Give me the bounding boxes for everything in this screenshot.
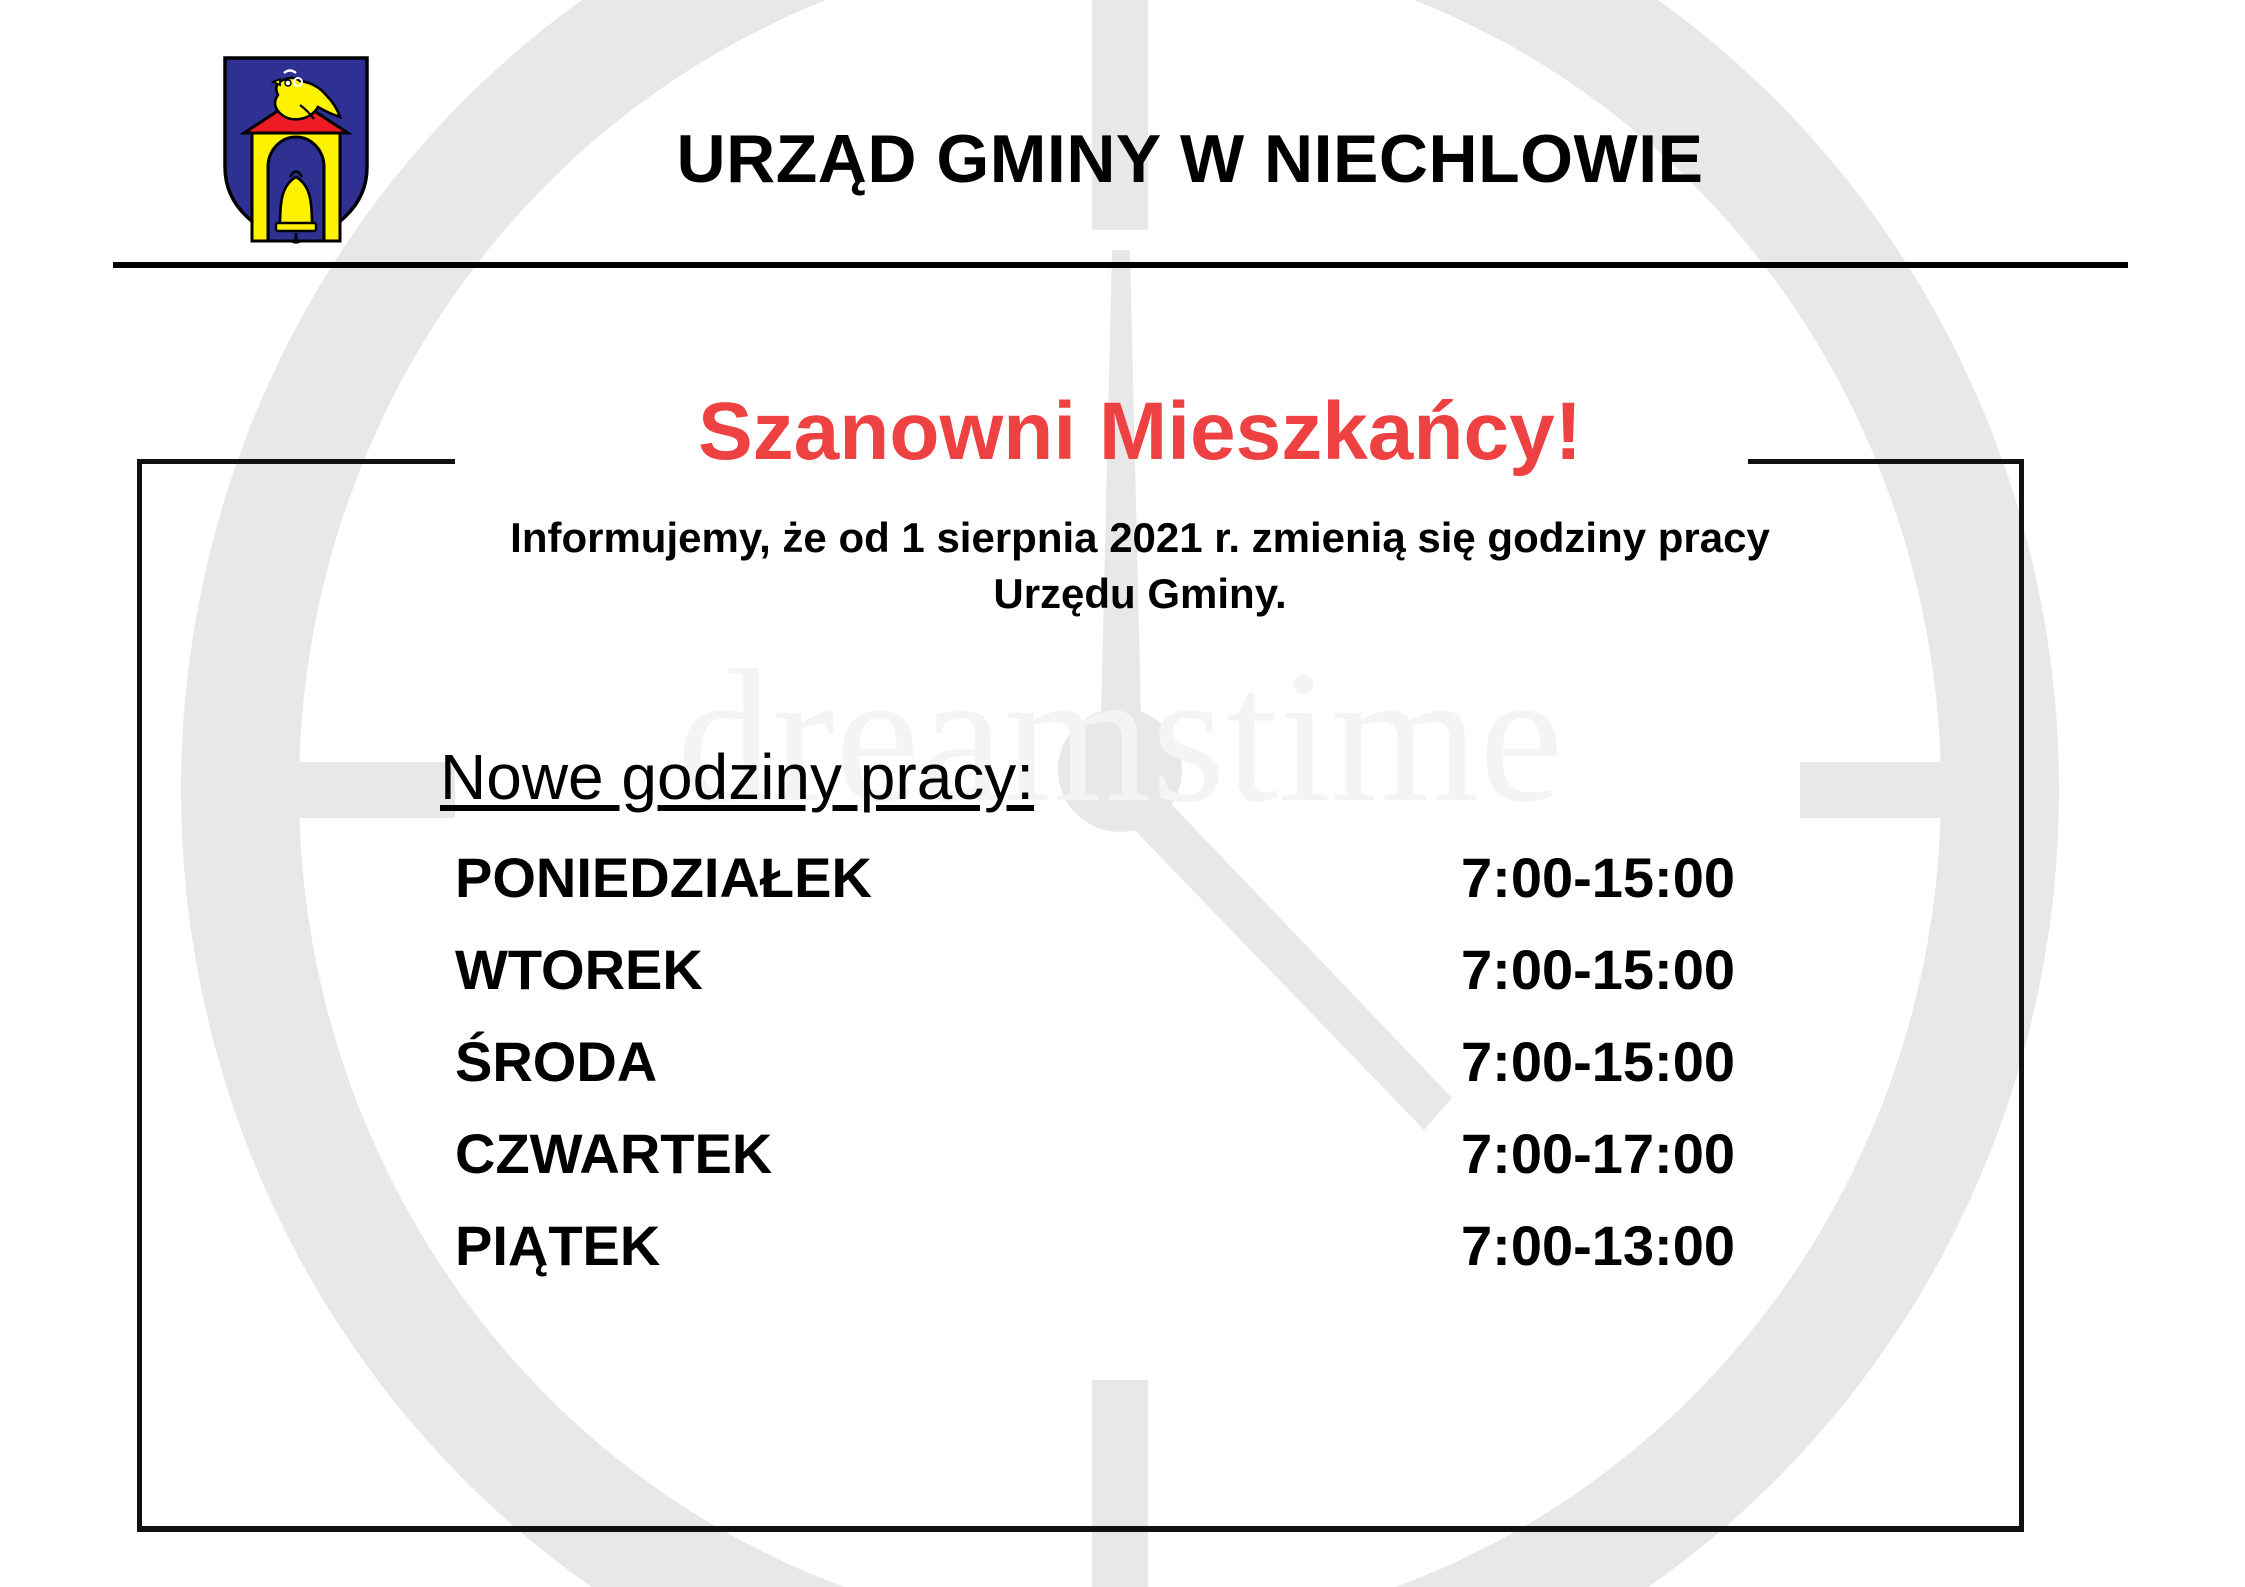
table-row: PIĄTEK 7:00-13:00 (455, 1213, 1755, 1305)
day-label: WTOREK (455, 937, 703, 1002)
header-divider (113, 262, 2128, 268)
content-box-left-edge (137, 459, 142, 1531)
table-row: PONIEDZIAŁEK 7:00-15:00 (455, 845, 1755, 937)
time-value: 7:00-13:00 (1461, 1213, 1735, 1278)
page-title: URZĄD GMINY W NIECHLOWIE (400, 120, 1980, 198)
day-label: PONIEDZIAŁEK (455, 845, 872, 910)
time-value: 7:00-15:00 (1461, 1029, 1735, 1094)
time-value: 7:00-17:00 (1461, 1121, 1735, 1186)
table-row: ŚRODA 7:00-15:00 (455, 1029, 1755, 1121)
content-box-right-edge (2019, 459, 2024, 1531)
poster-page: dreamstime URZĄD GMINY W NIECHLOWIE Szan… (0, 0, 2245, 1587)
content-box-bottom-edge (137, 1526, 2024, 1532)
day-label: CZWARTEK (455, 1121, 772, 1186)
notice-intro-text: Informujemy, że od 1 sierpnia 2021 r. zm… (480, 510, 1800, 622)
day-label: ŚRODA (455, 1029, 657, 1094)
niechlow-coat-of-arms-icon (222, 55, 370, 245)
time-value: 7:00-15:00 (1461, 937, 1735, 1002)
notice-headline: Szanowni Mieszkańcy! (400, 385, 1880, 479)
opening-hours-table: PONIEDZIAŁEK 7:00-15:00 WTOREK 7:00-15:0… (455, 845, 1755, 1305)
new-hours-label: Nowe godziny pracy: (440, 740, 1034, 814)
table-row: WTOREK 7:00-15:00 (455, 937, 1755, 1029)
day-label: PIĄTEK (455, 1213, 660, 1278)
time-value: 7:00-15:00 (1461, 845, 1735, 910)
table-row: CZWARTEK 7:00-17:00 (455, 1121, 1755, 1213)
